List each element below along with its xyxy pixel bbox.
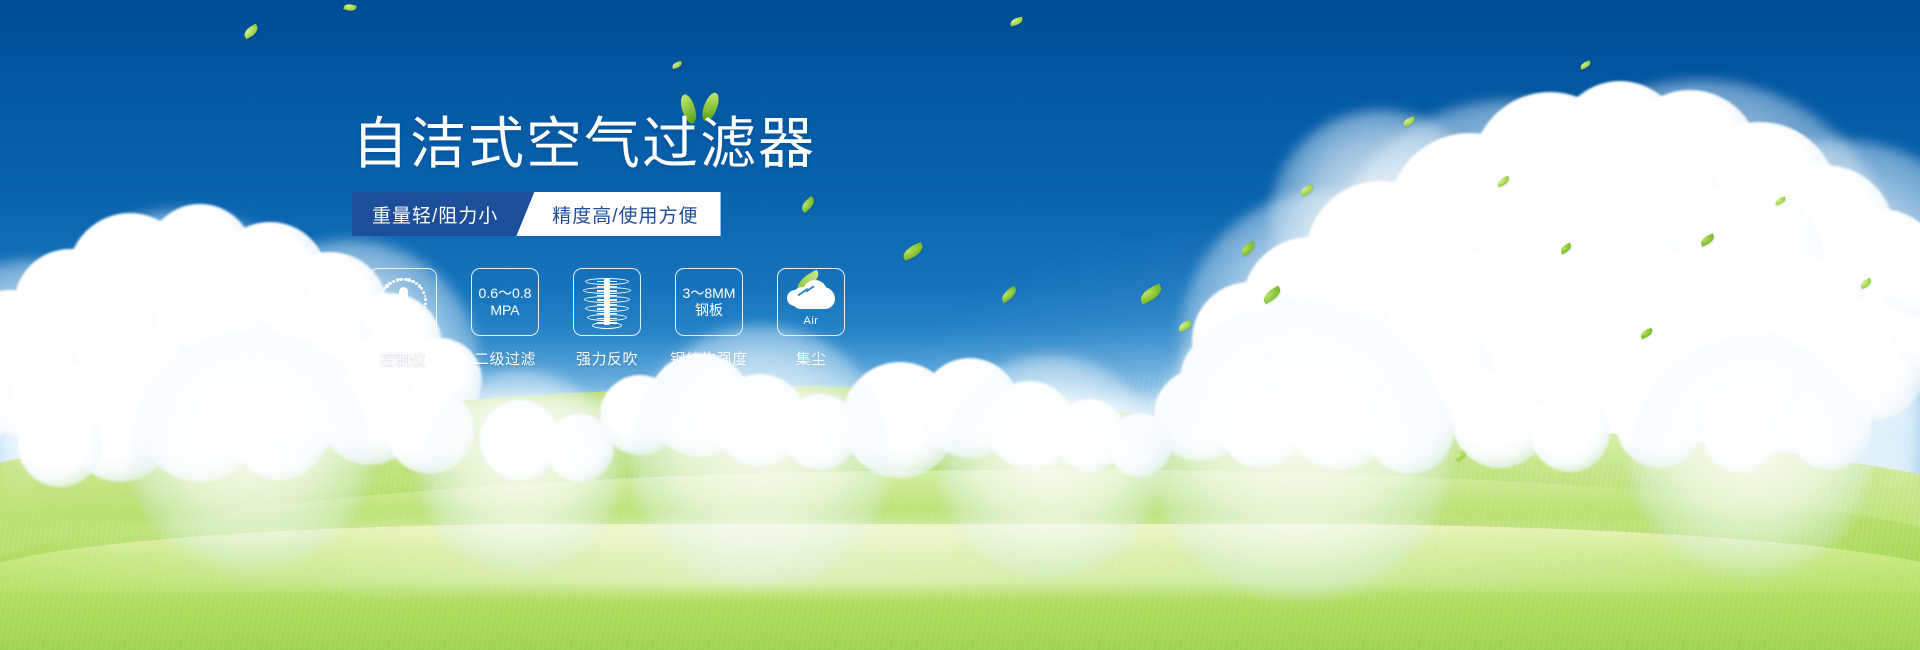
- gauge-tick: [424, 303, 426, 305]
- plate-text-icon: 3～8MM 钢板: [683, 285, 736, 319]
- feature-icon-box: 3～8MM 钢板: [675, 268, 743, 336]
- gauge-tick: [422, 291, 425, 294]
- page-title: 自洁式空气过滤器: [352, 116, 816, 172]
- feature-list: NO OFF 控制仪 0.6～0.8 MPA 二级过滤 强: [352, 268, 862, 369]
- feature-item-steel[interactable]: 3～8MM 钢板 钢结构强度: [658, 268, 760, 369]
- feature-label: 强力反吹: [556, 348, 658, 369]
- feature-icon-text-line2: MPA: [479, 302, 532, 319]
- air-label: Air: [783, 315, 839, 327]
- feature-label: 钢结构强度: [658, 348, 760, 369]
- gauge-tick: [392, 280, 396, 284]
- filter-pleats: [597, 281, 617, 323]
- gauge-tick: [381, 291, 384, 294]
- feature-label: 集尘: [760, 348, 862, 369]
- gauge-needle: [399, 287, 408, 319]
- tagline-bar: 重量轻/阻力小 精度高/使用方便: [352, 192, 721, 236]
- pressure-text-icon: 0.6～0.8 MPA: [479, 285, 532, 319]
- gauge-tick: [418, 317, 421, 320]
- hero-banner: 自洁式空气过滤器 重量轻/阻力小 精度高/使用方便 NO OFF 控制仪 0.6…: [0, 0, 1920, 650]
- cloud-puff: [314, 369, 406, 461]
- cloud-cluster-right: [1080, 40, 1920, 460]
- cloud-puff: [1180, 330, 1280, 430]
- gauge-tick: [424, 295, 427, 298]
- gauge-tick: [422, 310, 425, 313]
- gauge-tick: [379, 298, 381, 300]
- feature-icon-text-line2: 钢板: [683, 302, 736, 319]
- feature-item-backblow[interactable]: 强力反吹: [556, 268, 658, 369]
- filter-stack-icon: [583, 277, 631, 327]
- gauge-tick: [424, 306, 427, 309]
- gauge-tick: [424, 298, 426, 300]
- gauge-label-right: OFF: [416, 319, 430, 326]
- feature-item-dust[interactable]: Air 集尘: [760, 268, 862, 369]
- gauge-tick: [383, 287, 386, 290]
- gauge-tick: [420, 314, 423, 317]
- feature-label: 控制仪: [352, 348, 454, 369]
- gauge-tick: [379, 306, 382, 309]
- feature-label: 二级过滤: [454, 348, 556, 369]
- feature-icon-box: 0.6～0.8 MPA: [471, 268, 539, 336]
- feature-icon-box: NO OFF: [369, 268, 437, 336]
- air-cloud-icon: Air: [783, 279, 839, 325]
- cloud-puff: [1668, 323, 1812, 467]
- cloud-puff: [30, 365, 130, 465]
- gauge-tick: [381, 310, 384, 313]
- gauge-tick: [379, 295, 382, 298]
- gauge-tick: [399, 278, 403, 282]
- feature-icon-box: [573, 268, 641, 336]
- feature-item-controller[interactable]: NO OFF 控制仪: [352, 268, 454, 369]
- feature-icon-text-line1: 3～8MM: [683, 285, 736, 302]
- cloud-puff: [1342, 312, 1498, 468]
- gauge-tick: [420, 287, 423, 290]
- gauge-tick: [379, 303, 381, 305]
- feature-item-two-stage[interactable]: 0.6～0.8 MPA 二级过滤: [454, 268, 556, 369]
- tagline-badge-primary: 重量轻/阻力小: [352, 192, 534, 236]
- gauge-icon: NO OFF: [376, 276, 430, 328]
- feature-icon-box: Air: [777, 268, 845, 336]
- feature-icon-text-line1: 0.6～0.8: [479, 285, 532, 302]
- tagline-badge-secondary: 精度高/使用方便: [516, 192, 720, 236]
